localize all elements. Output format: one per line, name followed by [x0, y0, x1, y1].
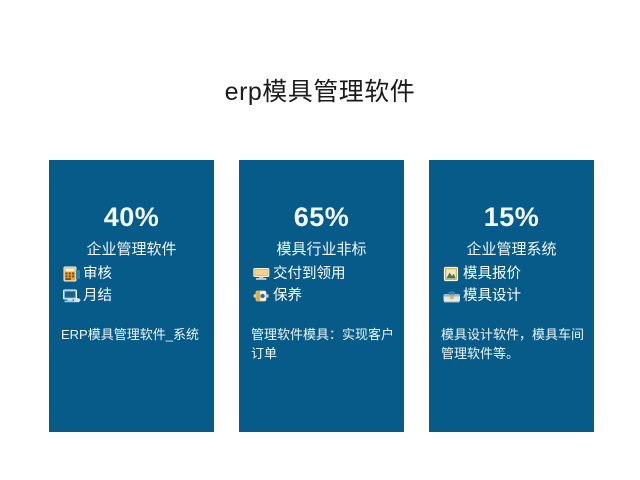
list-item-label: 交付到领用: [273, 265, 346, 283]
panel-body-text: 模具设计软件，模具车间管理软件等。: [441, 325, 586, 363]
list-item[interactable]: 模具报价: [443, 263, 593, 284]
list-item[interactable]: 审核: [63, 263, 213, 284]
stat-panel[interactable]: 40% 企业管理软件: [49, 160, 214, 432]
monitor-yellow-icon: [253, 266, 271, 282]
bullet-list: 审核 月结: [63, 263, 213, 307]
list-item[interactable]: 模具设计: [443, 285, 593, 306]
stat-subtitle: 模具行业非标: [239, 240, 404, 260]
stat-panel[interactable]: 65% 模具行业非标 交付到领用: [239, 160, 404, 432]
slide-canvas: erp模具管理软件 40% 企业管理软件: [0, 0, 640, 480]
stat-percent: 65%: [239, 202, 404, 232]
battery-icon: [253, 288, 271, 304]
list-item[interactable]: 月结: [63, 285, 213, 306]
bullet-list: 模具报价 模具设计: [443, 263, 593, 307]
list-item-label: 保养: [273, 287, 302, 305]
list-item-label: 模具设计: [463, 287, 521, 305]
list-item[interactable]: 保养: [253, 285, 403, 306]
list-item-label: 月结: [83, 287, 112, 305]
panel-body-text: 管理软件模具：实现客户订单: [251, 325, 396, 363]
stat-subtitle: 企业管理软件: [49, 240, 214, 260]
image-frame-icon: [443, 266, 461, 282]
list-item-label: 审核: [83, 265, 112, 283]
stat-percent: 15%: [429, 202, 594, 232]
panel-body-text: ERP模具管理软件_系统: [61, 325, 206, 344]
stat-panel[interactable]: 15% 企业管理系统 模具报价: [429, 160, 594, 432]
list-item[interactable]: 交付到领用: [253, 263, 403, 284]
page-title: erp模具管理软件: [0, 76, 640, 108]
panel-group: 40% 企业管理软件: [49, 160, 594, 432]
calculator-icon: [63, 266, 81, 282]
toolbox-icon: [443, 288, 461, 304]
list-item-label: 模具报价: [463, 265, 521, 283]
stat-subtitle: 企业管理系统: [429, 240, 594, 260]
monitor-icon: [63, 288, 81, 304]
stat-percent: 40%: [49, 202, 214, 232]
bullet-list: 交付到领用 保养: [253, 263, 403, 307]
